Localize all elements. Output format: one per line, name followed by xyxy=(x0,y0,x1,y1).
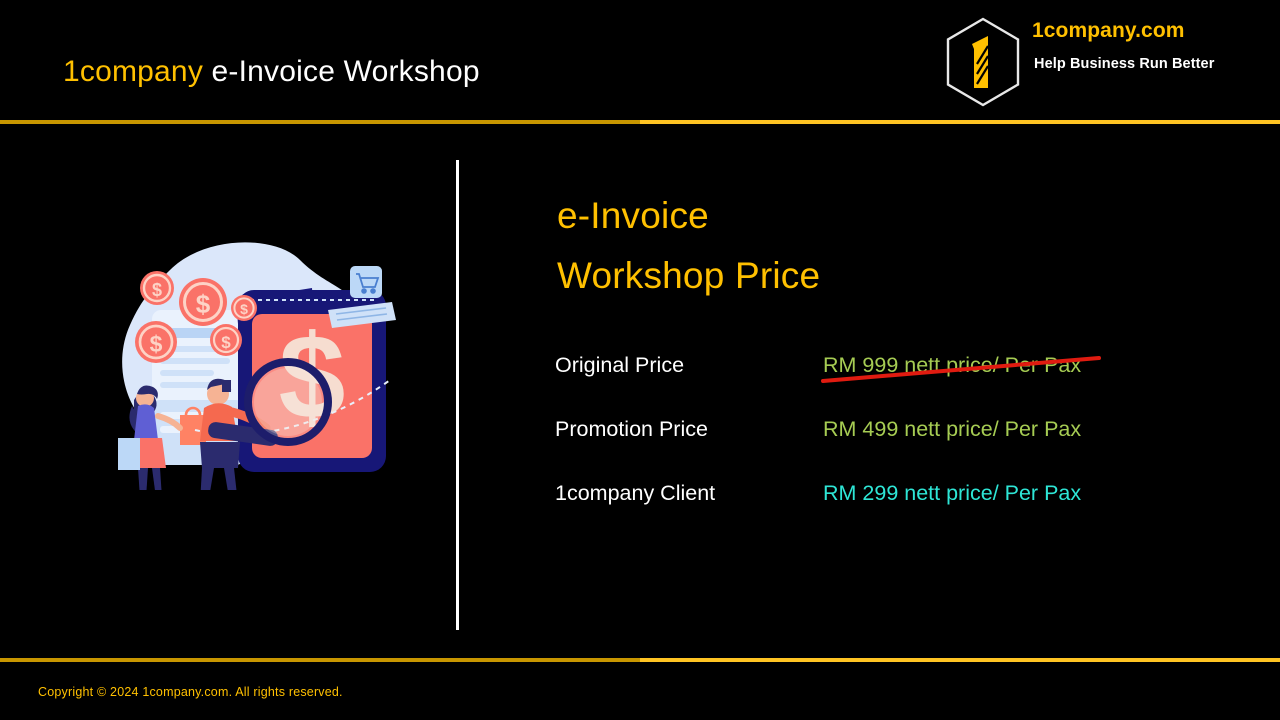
page-title: 1company e-Invoice Workshop xyxy=(63,52,480,92)
svg-text:$: $ xyxy=(221,333,231,352)
svg-text:$: $ xyxy=(196,289,211,319)
vertical-divider xyxy=(456,160,459,630)
footer-divider-left xyxy=(0,658,640,662)
brand-logo-block: 1company.com Help Business Run Better xyxy=(944,16,1274,112)
pricing-row-promotion: Promotion Price RM 499 nett price/ Per P… xyxy=(555,412,1155,476)
pricing-label: Original Price xyxy=(555,348,684,382)
svg-text:$: $ xyxy=(240,301,248,317)
pricing-row-client: 1company Client RM 299 nett price/ Per P… xyxy=(555,476,1155,540)
pricing-table: Original Price RM 999 nett price/ Per Pa… xyxy=(555,348,1155,540)
svg-text:$: $ xyxy=(152,280,162,300)
hexagon-one-logo-icon xyxy=(944,16,1022,108)
section-headline: e-Invoice Workshop Price xyxy=(557,186,820,306)
brand-name: 1company.com xyxy=(1032,16,1214,46)
e-payment-mobile-illustration-icon: $ $ $ xyxy=(100,230,400,490)
pricing-value: RM 499 nett price/ Per Pax xyxy=(823,412,1081,446)
header-divider-right xyxy=(640,120,1280,124)
pricing-row-original: Original Price RM 999 nett price/ Per Pa… xyxy=(555,348,1155,412)
slide-root: 1company e-Invoice Workshop 1company.com… xyxy=(0,0,1280,720)
page-title-brand: 1company xyxy=(63,55,203,88)
brand-tagline: Help Business Run Better xyxy=(1032,53,1214,75)
page-title-rest: e-Invoice Workshop xyxy=(203,55,480,88)
pricing-label: 1company Client xyxy=(555,476,715,510)
pricing-value: RM 299 nett price/ Per Pax xyxy=(823,476,1081,510)
svg-text:$: $ xyxy=(150,331,163,357)
pricing-label: Promotion Price xyxy=(555,412,708,446)
brand-logo-text: 1company.com Help Business Run Better xyxy=(1032,16,1214,75)
headline-line-1: e-Invoice xyxy=(557,186,820,246)
footer-divider-right xyxy=(640,658,1280,662)
headline-line-2: Workshop Price xyxy=(557,246,820,306)
footer-copyright: Copyright © 2024 1company.com. All right… xyxy=(38,683,343,701)
header-divider-left xyxy=(0,120,640,124)
pricing-value: RM 999 nett price/ Per Pax xyxy=(823,348,1081,382)
